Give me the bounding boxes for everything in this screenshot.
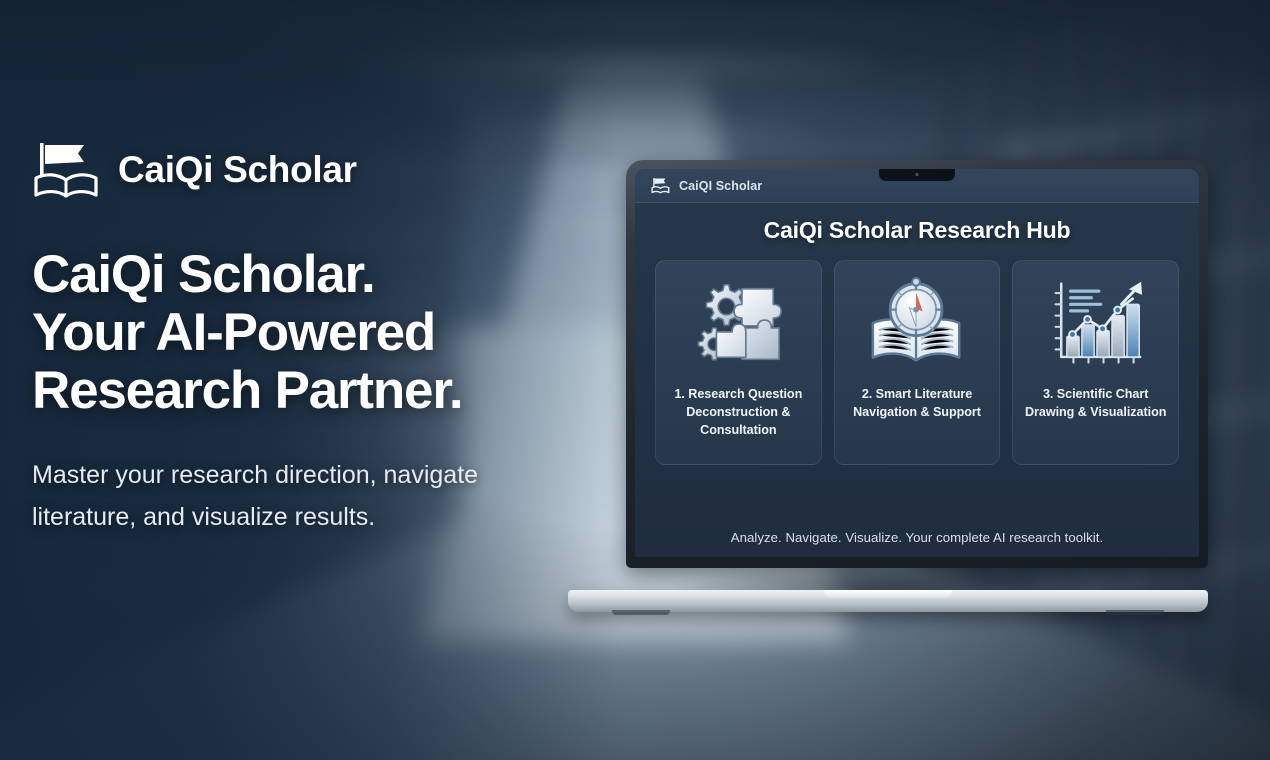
laptop-foot: [1106, 610, 1164, 615]
laptop-lid: CaiQI Scholar CaiQi Scholar Research Hub: [626, 160, 1208, 568]
flag-over-open-book-icon: [32, 140, 104, 200]
app-tagline: Analyze. Navigate. Visualize. Your compl…: [655, 517, 1179, 557]
laptop-base: [568, 590, 1208, 612]
headline-line-2: Your AI-Powered: [32, 304, 592, 362]
feature-card-research-question[interactable]: 1. Research Question Deconstruction & Co…: [655, 260, 822, 465]
feature-card-literature-navigation[interactable]: 2. Smart Literature Navigation & Support: [834, 260, 1001, 465]
compass-open-book-icon: [867, 275, 967, 375]
laptop-screen: CaiQI Scholar CaiQi Scholar Research Hub: [635, 169, 1199, 557]
hero-content: CaiQi Scholar CaiQi Scholar. Your AI-Pow…: [32, 140, 592, 538]
brand-name: CaiQi Scholar: [118, 149, 357, 191]
laptop-mockup: CaiQI Scholar CaiQi Scholar Research Hub: [568, 160, 1208, 612]
gears-puzzle-icon: [689, 275, 787, 375]
feature-card-scientific-chart[interactable]: 3. Scientific Chart Drawing & Visualizat…: [1012, 260, 1179, 465]
laptop-base-notch: [824, 590, 952, 598]
app-body: CaiQi Scholar Research Hub: [635, 203, 1199, 557]
hero-subheadline: Master your research direction, navigate…: [32, 455, 502, 538]
hub-title: CaiQi Scholar Research Hub: [655, 217, 1179, 244]
headline-line-3: Research Partner.: [32, 362, 592, 420]
flag-over-open-book-icon: [651, 177, 671, 194]
camera-notch-icon: [879, 169, 955, 181]
brand: CaiQi Scholar: [32, 140, 592, 200]
app-topbar-title: CaiQI Scholar: [679, 179, 762, 193]
page-title: CaiQi Scholar. Your AI-Powered Research …: [32, 246, 592, 419]
growth-chart-icon: [1046, 275, 1146, 375]
laptop-foot: [612, 610, 670, 615]
feature-card-label: 1. Research Question Deconstruction & Co…: [664, 385, 813, 439]
headline-line-1: CaiQi Scholar.: [32, 246, 592, 304]
feature-card-label: 3. Scientific Chart Drawing & Visualizat…: [1021, 385, 1170, 421]
feature-card-list: 1. Research Question Deconstruction & Co…: [655, 260, 1179, 465]
feature-card-label: 2. Smart Literature Navigation & Support: [843, 385, 992, 421]
